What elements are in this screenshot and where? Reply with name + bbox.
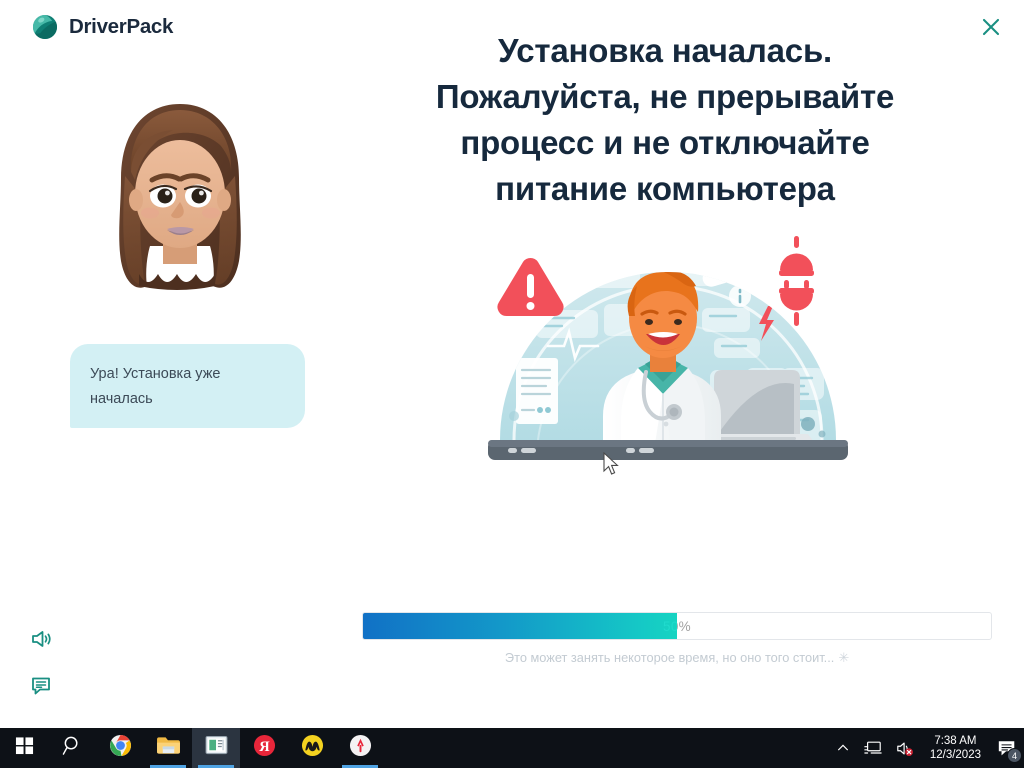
- sparkle-icon: ✳: [838, 650, 849, 665]
- page-title-line-1: Установка началась.: [355, 28, 975, 74]
- notifications-icon[interactable]: 4: [990, 728, 1024, 768]
- page-title-line-3: процесс и не отключайте: [355, 120, 975, 166]
- yandex-taskbar-item[interactable]: Я: [240, 728, 288, 768]
- volume-icon[interactable]: [30, 628, 52, 650]
- clock-time: 7:38 AM: [934, 734, 976, 748]
- brand: DriverPack: [32, 14, 173, 40]
- chrome-taskbar-item[interactable]: [96, 728, 144, 768]
- yellow-m-icon: [301, 734, 324, 762]
- close-icon[interactable]: [979, 15, 1003, 39]
- brand-name: DriverPack: [69, 15, 173, 39]
- notifications-badge: 4: [1007, 748, 1022, 763]
- driverpack-window: DriverPack Установка началась. Пожалуйст…: [0, 0, 1024, 728]
- chrome-icon: [109, 734, 132, 762]
- windows-logo-icon: [15, 736, 34, 760]
- chat-icon[interactable]: [30, 674, 52, 696]
- power-plug-disconnected-icon: [779, 236, 814, 326]
- chevron-up-icon[interactable]: [829, 728, 857, 768]
- progress-note-text: Это может занять некоторое время, но оно…: [505, 650, 834, 665]
- progress-percent-label: 50%: [363, 613, 991, 639]
- system-tray: 7:38 AM 12/3/2023 4: [829, 728, 1024, 768]
- network-monitor-icon[interactable]: [857, 728, 889, 768]
- clock-date: 12/3/2023: [930, 748, 981, 762]
- mail-ru-taskbar-item[interactable]: [288, 728, 336, 768]
- taskbar: Я: [0, 728, 1024, 768]
- assistant-message-bubble: Ура! Установка уже началась: [70, 344, 305, 428]
- progress-area: 50% Это может занять некоторое время, но…: [362, 612, 992, 666]
- file-explorer-taskbar-item[interactable]: [144, 728, 192, 768]
- female-memoji-avatar: [95, 96, 265, 311]
- volume-muted-icon[interactable]: [889, 728, 921, 768]
- yandex-browser-taskbar-item[interactable]: [336, 728, 384, 768]
- clock[interactable]: 7:38 AM 12/3/2023: [921, 728, 990, 768]
- driverpack-taskbar-item[interactable]: [192, 728, 240, 768]
- search-icon: [62, 735, 83, 761]
- yandex-browser-icon: [349, 734, 372, 762]
- warning-triangle-icon: [497, 258, 563, 316]
- driverpack-window-icon: [205, 735, 228, 761]
- side-icon-bar: [30, 628, 52, 696]
- page-title-line-2: Пожалуйста, не прерывайте: [355, 74, 975, 120]
- assistant-message-text: Ура! Установка уже началась: [90, 366, 221, 407]
- progress-note: Это может занять некоторое время, но оно…: [362, 650, 992, 666]
- driverpack-globe-icon: [32, 14, 58, 40]
- search-button[interactable]: [48, 728, 96, 768]
- yandex-red-icon: Я: [253, 734, 276, 762]
- svg-text:Я: Я: [259, 739, 270, 755]
- start-button[interactable]: [0, 728, 48, 768]
- screen: DriverPack Установка началась. Пожалуйст…: [0, 0, 1024, 768]
- folder-icon: [156, 735, 181, 761]
- technician-at-laptop-illustration: [478, 218, 858, 468]
- page-title-line-4: питание компьютера: [355, 166, 975, 212]
- progress-bar[interactable]: 50%: [362, 612, 992, 640]
- page-title: Установка началась. Пожалуйста, не преры…: [355, 28, 975, 212]
